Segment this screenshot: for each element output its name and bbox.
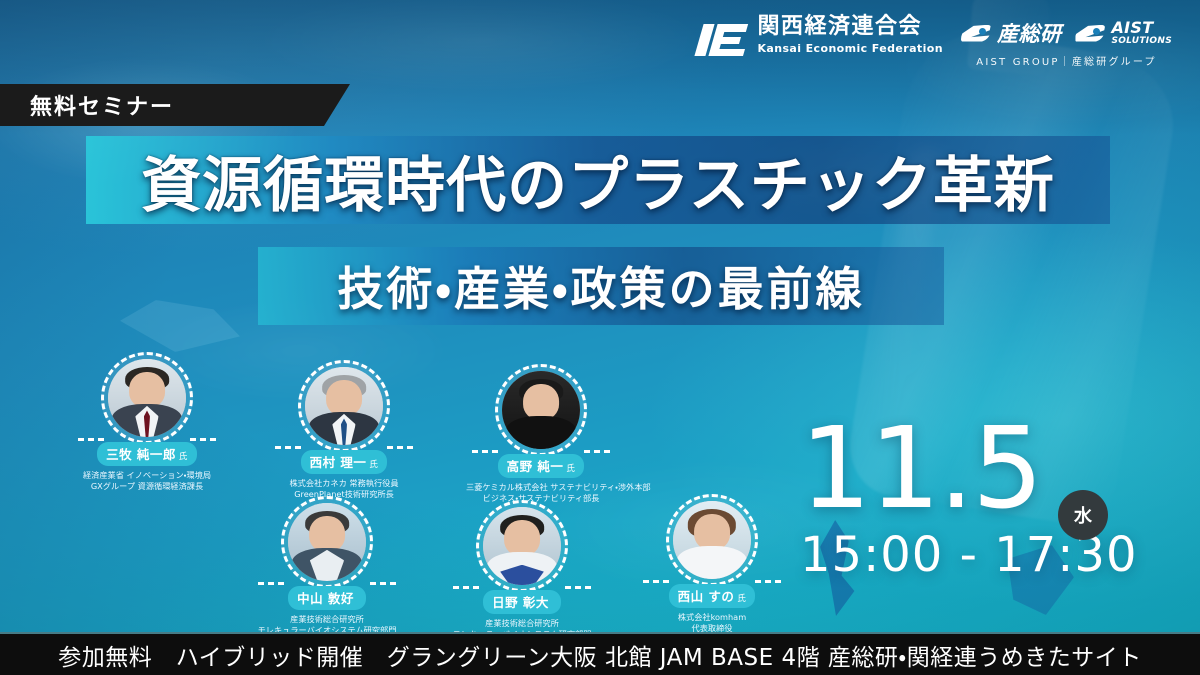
speaker-name-badge: 日野 彰大 <box>483 590 561 614</box>
footer-bar: 参加無料 ハイブリッド開催 グラングリーン大阪 北館 JAM BASE 4階 産… <box>0 632 1200 675</box>
event-time: 15:00 - 17:30 <box>800 527 1160 583</box>
event-date-block: 11.5 水 15:00 - 17:30 <box>800 418 1160 583</box>
speaker-honorific: 氏 <box>737 594 746 604</box>
plastic-debris-icon <box>120 300 240 352</box>
free-seminar-ribbon: 無料セミナー <box>0 84 350 126</box>
speaker-card: 中山 敦好 産業技術総合研究所 モレキュラーバイオシステム研究部門 招聘研究員 <box>252 496 402 647</box>
speaker-name: 西山 すの <box>678 589 735 604</box>
speaker-name: 高野 純一 <box>507 459 564 474</box>
aist-group-logo: 産総研 AIST SOLUTIONS AIST GROUP｜産総研グループ <box>961 18 1172 68</box>
speaker-name: 三牧 純一郎 <box>106 447 176 462</box>
speaker-name-badge: 高野 純一氏 <box>498 454 585 478</box>
footer-details: 参加無料 ハイブリッド開催 グラングリーン大阪 北館 JAM BASE 4階 産… <box>58 638 1142 672</box>
speaker-card: 三牧 純一郎氏 経済産業省 イノベーション・環境局 GXグループ 資源循環経済課… <box>72 352 222 492</box>
kef-monogram-icon <box>697 18 749 62</box>
seminar-poster: 関西経済連合会 Kansai Economic Federation 産総研 A… <box>0 0 1200 675</box>
sponsor-logos: 関西経済連合会 Kansai Economic Federation 産総研 A… <box>697 16 1173 68</box>
aist-swoosh-icon <box>1075 25 1105 42</box>
affiliation-line: 産業技術総合研究所 <box>447 618 597 629</box>
speaker-honorific: 氏 <box>179 452 188 462</box>
day-of-week-badge: 水 <box>1058 490 1108 540</box>
affiliation-line: 産業技術総合研究所 <box>252 614 402 625</box>
kansai-economic-federation-logo: 関西経済連合会 Kansai Economic Federation <box>697 16 943 62</box>
speaker-honorific: 氏 <box>369 460 378 470</box>
speaker-avatar <box>476 500 568 592</box>
aist-name-jp: 産総研 <box>997 18 1062 48</box>
affiliation-line: 三菱ケミカル株式会社 サステナビリティ・渉外本部 <box>466 482 616 493</box>
speaker-grid: 三牧 純一郎氏 経済産業省 イノベーション・環境局 GXグループ 資源循環経済課… <box>72 352 862 632</box>
aist-solutions-line1: AIST <box>1111 20 1172 36</box>
main-title: 資源循環時代のプラスチック革新 <box>141 137 1055 224</box>
aist-sanso-logo: 産総研 <box>961 18 1062 48</box>
free-seminar-label: 無料セミナー <box>30 89 174 121</box>
kef-name-en: Kansai Economic Federation <box>758 43 943 54</box>
speaker-card: 日野 彰大 産業技術総合研究所 モレキュラーバイオシステム研究部門 主任研究員 <box>447 500 597 651</box>
speaker-avatar <box>101 352 193 444</box>
speaker-honorific: 氏 <box>566 464 575 474</box>
subtitle-band: 技術・産業・政策の最前線 <box>258 247 944 325</box>
aist-group-caption: AIST GROUP｜産総研グループ <box>976 53 1156 68</box>
speaker-affiliation: 経済産業省 イノベーション・環境局 GXグループ 資源循環経済課長 <box>72 470 222 493</box>
speaker-card: 高野 純一氏 三菱ケミカル株式会社 サステナビリティ・渉外本部 ビジネス・サステ… <box>466 364 616 504</box>
main-title-band: 資源循環時代のプラスチック革新 <box>86 136 1110 224</box>
speaker-affiliation: 株式会社komham 代表取締役 <box>637 612 787 635</box>
speaker-avatar <box>666 494 758 586</box>
speaker-avatar <box>281 496 373 588</box>
speaker-avatar <box>495 364 587 456</box>
speaker-name-badge: 中山 敦好 <box>288 586 366 610</box>
speaker-name-badge: 三牧 純一郎氏 <box>97 442 197 466</box>
aist-swoosh-icon <box>961 25 991 42</box>
kef-name-jp: 関西経済連合会 <box>758 16 943 38</box>
affiliation-line: 株式会社komham <box>637 612 787 623</box>
speaker-name-badge: 西村 理一氏 <box>301 450 388 474</box>
affiliation-line: GXグループ 資源循環経済課長 <box>72 481 222 492</box>
speaker-card: 西村 理一氏 株式会社カネカ 常務執行役員 GreenPlanet技術研究所長 <box>269 360 419 500</box>
speaker-name: 日野 彰大 <box>492 595 549 610</box>
speaker-name: 西村 理一 <box>310 455 367 470</box>
aist-solutions-logo: AIST SOLUTIONS <box>1075 20 1172 46</box>
affiliation-line: 株式会社カネカ 常務執行役員 <box>269 478 419 489</box>
affiliation-line: 経済産業省 イノベーション・環境局 <box>72 470 222 481</box>
speaker-name: 中山 敦好 <box>297 591 354 606</box>
aist-solutions-line2: SOLUTIONS <box>1111 37 1172 46</box>
subtitle: 技術・産業・政策の最前線 <box>337 253 864 319</box>
speaker-avatar <box>298 360 390 452</box>
speaker-name-badge: 西山 すの氏 <box>669 584 756 608</box>
speaker-card: 西山 すの氏 株式会社komham 代表取締役 <box>637 494 787 634</box>
